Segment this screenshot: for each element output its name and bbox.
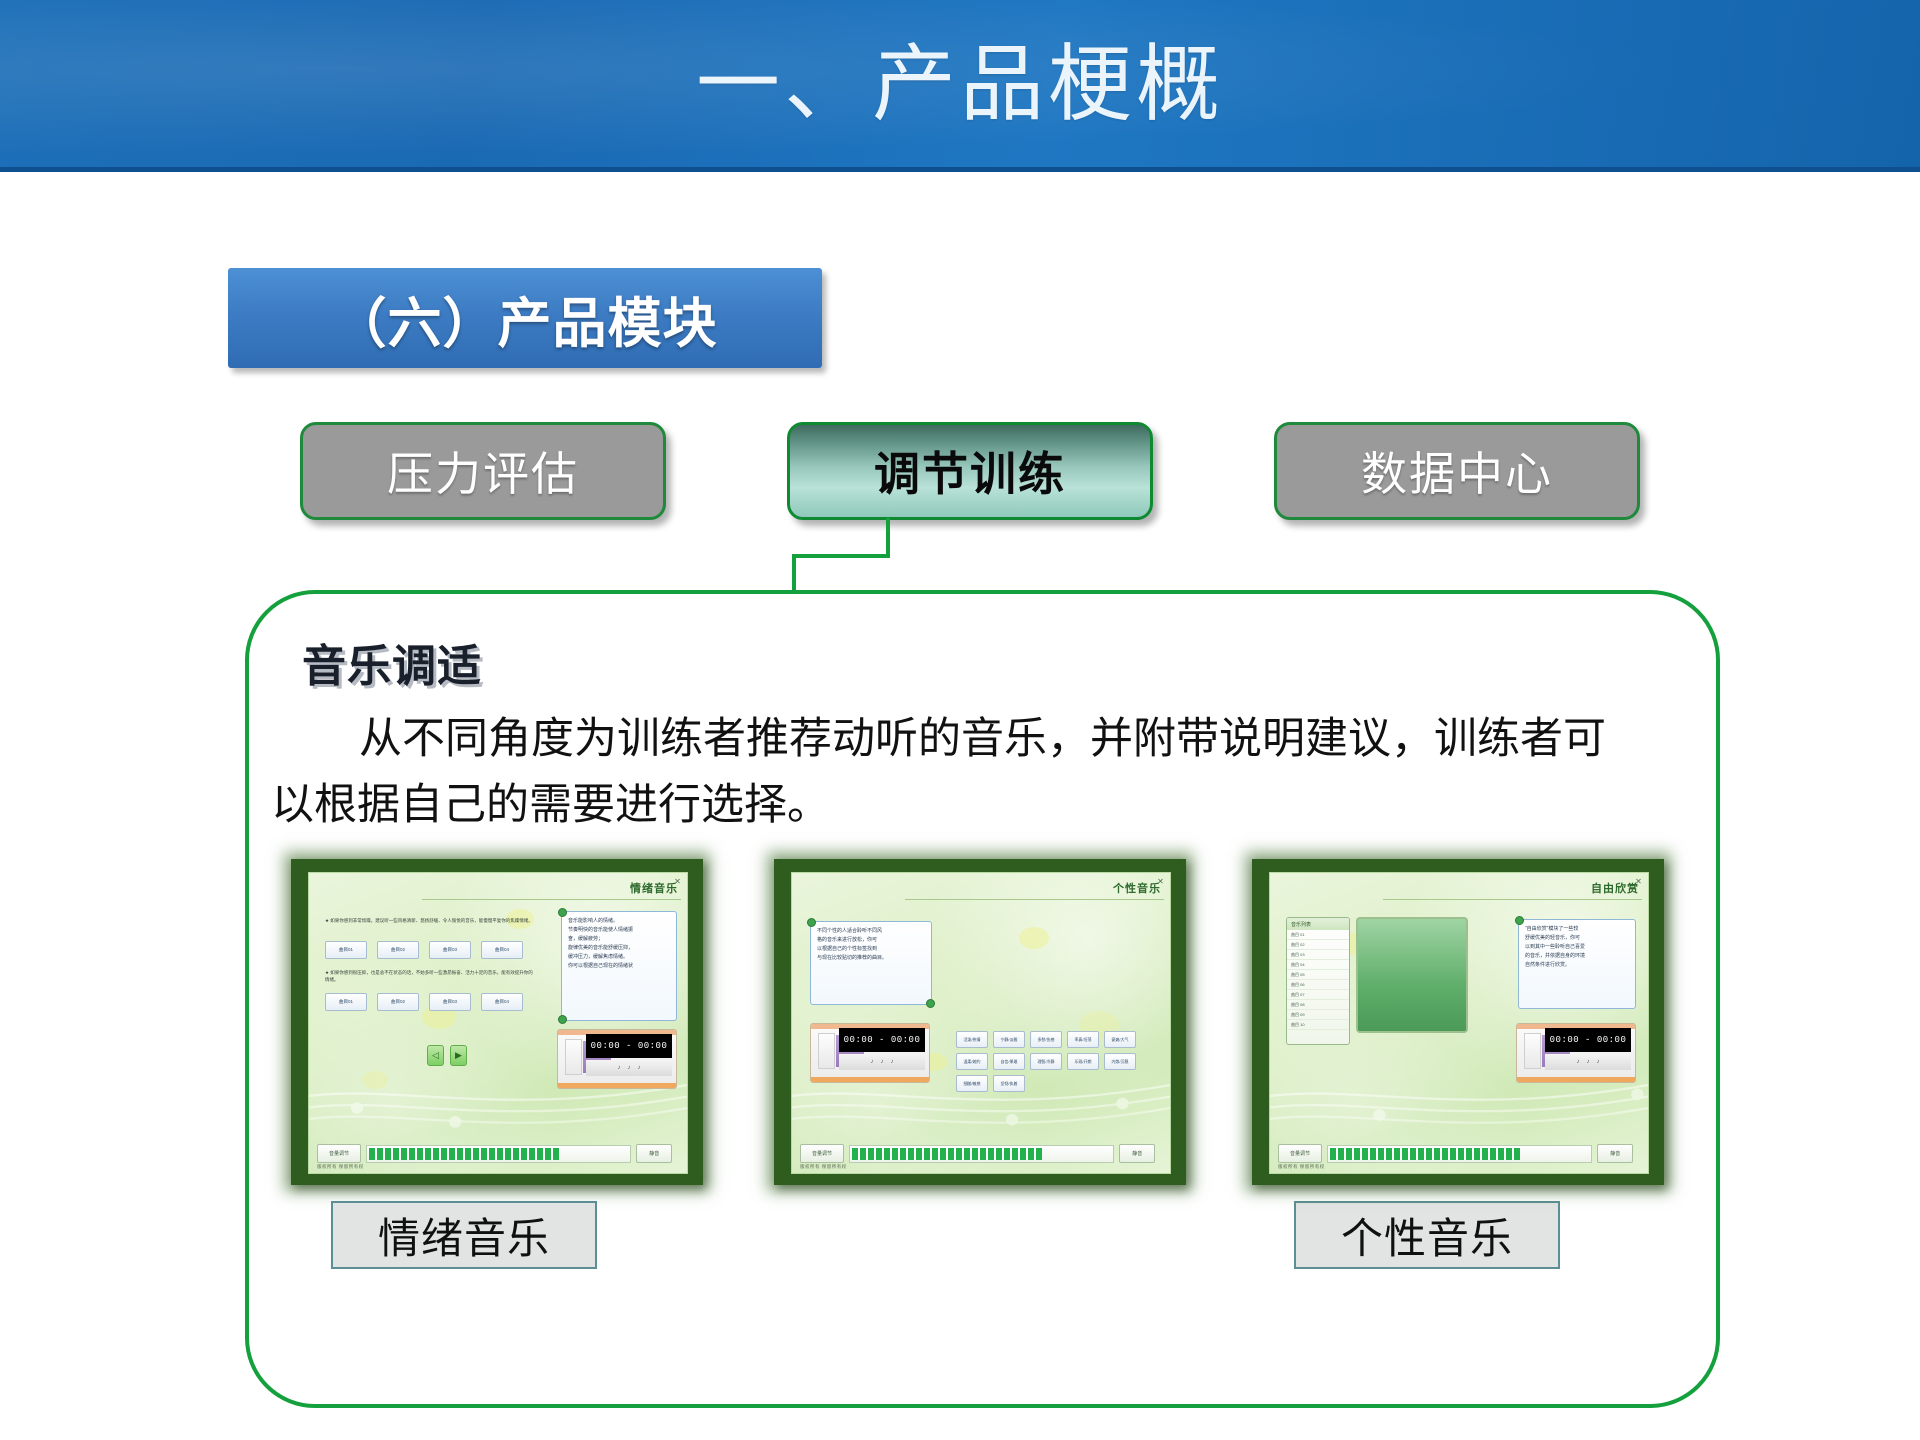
mute-button[interactable]: 静音 — [636, 1144, 672, 1163]
music-player[interactable]: 00:00 - 00:00 ♪♪♪ — [557, 1029, 677, 1089]
playback-controls[interactable]: ◁ ▶ — [427, 1045, 467, 1066]
thumbnail-item-personality-music[interactable]: ✕ 个性音乐 不同个性的人适合聆听不同风 格的音乐来进行放松，你可 以根据自己的… — [774, 859, 1186, 1189]
screenshot-personality-music[interactable]: ✕ 个性音乐 不同个性的人适合聆听不同风 格的音乐来进行放松，你可 以根据自己的… — [774, 859, 1186, 1185]
prev-button[interactable]: ◁ — [427, 1045, 444, 1066]
screenshot-emotion-music[interactable]: ✕ 情绪音乐 ★ 如果你感到非常烦躁，建议听一些风格清新、悠扬舒缓、令人愉悦的音… — [291, 859, 703, 1185]
track-list-row[interactable]: 曲目 09 — [1287, 1010, 1349, 1020]
volume-fill — [1330, 1148, 1520, 1160]
tip-line: 不同个性的人适合聆听不同风 — [817, 927, 925, 936]
note-line: 的音乐，并依据自身的环境 — [1525, 952, 1629, 961]
track-list-row[interactable]: 曲目 07 — [1287, 990, 1349, 1000]
panel-title: 音乐调适 — [302, 630, 482, 694]
module-button-data-center[interactable]: 数据中心 — [1274, 422, 1640, 520]
personality-tag[interactable]: 内敛/沉稳 — [1104, 1053, 1136, 1070]
footer-text: 版权所有 保留所有权 — [1278, 1164, 1325, 1170]
track-chip-row[interactable]: 曲目01 曲目02 曲目03 曲目04 — [325, 941, 523, 959]
tip-line: 格的音乐来进行放松，你可 — [817, 936, 925, 945]
handle-dot — [558, 1015, 567, 1024]
thumbnail-caption-personality-music: 个性音乐 — [1294, 1201, 1560, 1269]
tip-line: 与现在比较贴切的推荐的曲目。 — [817, 954, 925, 963]
track-list-row[interactable]: 曲目 02 — [1287, 940, 1349, 950]
module-button-label: 压力评估 — [387, 438, 579, 504]
advice-text: ★ 如果你感到很压抑，也是总不在状态的话，不妨多听一些激昂振奋、活力十足的音乐，… — [325, 969, 535, 983]
album-art — [818, 1033, 835, 1069]
handle-dot — [926, 999, 935, 1008]
module-button-row: 压力评估 调节训练 数据中心 — [300, 410, 1640, 522]
album-art — [1524, 1033, 1541, 1069]
volume-fill — [852, 1148, 1042, 1160]
personality-tag[interactable]: 理智/冷静 — [1030, 1053, 1062, 1070]
personality-tag-grid[interactable]: 活泼/热情 宁静/淡雅 多愁/伤感 率真/坦荡 豪爽/大气 温柔/婉约 自信/果… — [956, 1031, 1156, 1092]
personality-tag[interactable]: 乐观/开朗 — [1067, 1053, 1099, 1070]
advice-text: ★ 如果你感到非常烦躁，建议听一些风格清新、悠扬舒缓、令人愉悦的音乐，能慢慢平复… — [325, 917, 535, 924]
player-timer: 00:00 - 00:00 — [586, 1034, 672, 1058]
album-art — [565, 1039, 582, 1075]
volume-bar[interactable]: 音量调节 静音 — [317, 1144, 672, 1163]
module-button-label: 调节训练 — [874, 438, 1066, 504]
personality-tag[interactable]: 活泼/热情 — [956, 1031, 988, 1048]
player-meta: ♪♪♪ — [839, 1054, 925, 1070]
track-list-row[interactable]: 曲目 03 — [1287, 950, 1349, 960]
tip-line: 节奏明快的音乐能使人情绪振 — [568, 926, 670, 935]
handle-dot — [807, 918, 816, 927]
divider — [1383, 899, 1642, 900]
personality-tag[interactable]: 温柔/婉约 — [956, 1053, 988, 1070]
note-line: 自然条件进行欣赏。 — [1525, 961, 1629, 970]
personality-tag[interactable]: 坚韧/执着 — [993, 1075, 1025, 1092]
visualizer-screen — [1356, 917, 1468, 1033]
page-title: 一、产品梗概 — [0, 36, 1920, 132]
track-list-row[interactable]: 曲目 01 — [1287, 930, 1349, 940]
content-panel: 音乐调适 从不同角度为训练者推荐动听的音乐，并附带说明建议，训练者可以根据自己的… — [245, 590, 1720, 1408]
section-header-label: （六）产品模块 — [333, 279, 718, 358]
volume-track[interactable] — [849, 1145, 1114, 1163]
music-player[interactable]: 00:00 - 00:00 ♪♪♪ — [810, 1023, 930, 1083]
player-timer: 00:00 - 00:00 — [1545, 1028, 1631, 1052]
tip-line: 旋律优美的音乐能舒缓压抑， — [568, 944, 670, 953]
track-chip[interactable]: 曲目01 — [325, 941, 367, 959]
thumbnail-item-free-listening[interactable]: ✕ 自由欣赏 音乐列表 曲目 01 曲目 02 曲目 03 曲目 04 曲目 0… — [1252, 859, 1664, 1189]
player-timer: 00:00 - 00:00 — [839, 1028, 925, 1052]
track-chip[interactable]: 曲目04 — [481, 941, 523, 959]
header-banner: 一、产品梗概 — [0, 0, 1920, 172]
module-button-pressure-assessment[interactable]: 压力评估 — [300, 422, 666, 520]
module-button-regulation-training[interactable]: 调节训练 — [787, 422, 1153, 520]
personality-tag[interactable]: 细腻/敏感 — [956, 1075, 988, 1092]
volume-track[interactable] — [366, 1145, 631, 1163]
screenshot-header-label: 个性音乐 — [1113, 880, 1161, 896]
note-line: “自由欣赏”模块了一些较 — [1525, 925, 1629, 934]
handle-dot — [1515, 916, 1524, 925]
handle-dot — [558, 908, 567, 917]
personality-tag[interactable]: 率真/坦荡 — [1067, 1031, 1099, 1048]
screenshot-thumbnail-row: ✕ 情绪音乐 ★ 如果你感到非常烦躁，建议听一些风格清新、悠扬舒缓、令人愉悦的音… — [249, 859, 1716, 1189]
music-player[interactable]: 00:00 - 00:00 ♪♪♪ — [1516, 1023, 1636, 1083]
thumbnail-caption-emotion-music: 情绪音乐 — [331, 1201, 597, 1269]
track-list-row[interactable]: 曲目 05 — [1287, 970, 1349, 980]
divider — [422, 899, 681, 900]
track-chip[interactable]: 曲目03 — [429, 993, 471, 1011]
player-meta: ♪♪♪ — [586, 1060, 672, 1076]
track-list-panel[interactable]: 音乐列表 曲目 01 曲目 02 曲目 03 曲目 04 曲目 05 曲目 06… — [1286, 917, 1350, 1045]
personality-tag[interactable]: 多愁/伤感 — [1030, 1031, 1062, 1048]
personality-tag[interactable]: 自信/果敢 — [993, 1053, 1025, 1070]
module-button-label: 数据中心 — [1361, 438, 1553, 504]
mute-button[interactable]: 静音 — [1597, 1144, 1633, 1163]
personality-tag[interactable]: 宁静/淡雅 — [993, 1031, 1025, 1048]
personality-tag[interactable]: 豪爽/大气 — [1104, 1031, 1136, 1048]
track-chip[interactable]: 曲目04 — [481, 993, 523, 1011]
tip-line: 缓冲压力，缓解焦虑情绪。 — [568, 953, 670, 962]
track-chip[interactable]: 曲目02 — [377, 993, 419, 1011]
track-list-row[interactable]: 曲目 06 — [1287, 980, 1349, 990]
mute-button[interactable]: 静音 — [1119, 1144, 1155, 1163]
tip-box: 不同个性的人适合聆听不同风 格的音乐来进行放松，你可 以根据自己的个性标签找到 … — [810, 921, 932, 1005]
play-button[interactable]: ▶ — [450, 1045, 467, 1066]
divider — [905, 899, 1164, 900]
note-box: “自由欣赏”模块了一些较 舒缓优美的轻音乐，你可 以到其中一些聆听自己喜爱 的音… — [1518, 919, 1636, 1009]
volume-fill — [369, 1148, 559, 1160]
volume-bar[interactable]: 音量调节 静音 — [800, 1144, 1155, 1163]
track-list-row[interactable]: 曲目 04 — [1287, 960, 1349, 970]
caption-label: 情绪音乐 — [378, 1205, 550, 1266]
note-line: 舒缓优美的轻音乐，你可 — [1525, 934, 1629, 943]
volume-label: 音量调节 — [317, 1144, 361, 1163]
player-meta: ♪♪♪ — [1545, 1054, 1631, 1070]
screenshot-header-label: 自由欣赏 — [1591, 880, 1639, 896]
tip-line: 你可以根据自己现在的情绪状 — [568, 962, 670, 971]
thumbnail-item-emotion-music[interactable]: ✕ 情绪音乐 ★ 如果你感到非常烦躁，建议听一些风格清新、悠扬舒缓、令人愉悦的音… — [291, 859, 703, 1189]
tip-line: 以根据自己的个性标签找到 — [817, 945, 925, 954]
track-chip-row[interactable]: 曲目01 曲目02 曲目03 曲目04 — [325, 993, 523, 1011]
track-chip[interactable]: 曲目02 — [377, 941, 419, 959]
screenshot-free-listening[interactable]: ✕ 自由欣赏 音乐列表 曲目 01 曲目 02 曲目 03 曲目 04 曲目 0… — [1252, 859, 1664, 1185]
tip-box: 音乐能影响人的情绪。 节奏明快的音乐能使人情绪振 奋，缓解疲劳； 旋律优美的音乐… — [561, 911, 677, 1021]
banner-underline — [0, 167, 1920, 172]
volume-track[interactable] — [1327, 1145, 1592, 1163]
note-line: 以到其中一些聆听自己喜爱 — [1525, 943, 1629, 952]
section-header-plate: （六）产品模块 — [228, 268, 822, 368]
panel-body-text: 从不同角度为训练者推荐动听的音乐，并附带说明建议，训练者可以根据自己的需要进行选… — [249, 706, 1669, 838]
volume-label: 音量调节 — [800, 1144, 844, 1163]
caption-label: 个性音乐 — [1341, 1205, 1513, 1266]
volume-bar[interactable]: 音量调节 静音 — [1278, 1144, 1633, 1163]
screenshot-header-label: 情绪音乐 — [630, 880, 678, 896]
track-chip[interactable]: 曲目01 — [325, 993, 367, 1011]
track-list-row[interactable]: 曲目 08 — [1287, 1000, 1349, 1010]
footer-text: 版权所有 保留所有权 — [800, 1164, 847, 1170]
tip-line: 音乐能影响人的情绪。 — [568, 917, 670, 926]
footer-text: 版权所有 保留所有权 — [317, 1164, 364, 1170]
track-list-title: 音乐列表 — [1287, 918, 1349, 930]
volume-label: 音量调节 — [1278, 1144, 1322, 1163]
track-list-row[interactable]: 曲目 10 — [1287, 1020, 1349, 1030]
track-chip[interactable]: 曲目03 — [429, 941, 471, 959]
tip-line: 奋，缓解疲劳； — [568, 935, 670, 944]
